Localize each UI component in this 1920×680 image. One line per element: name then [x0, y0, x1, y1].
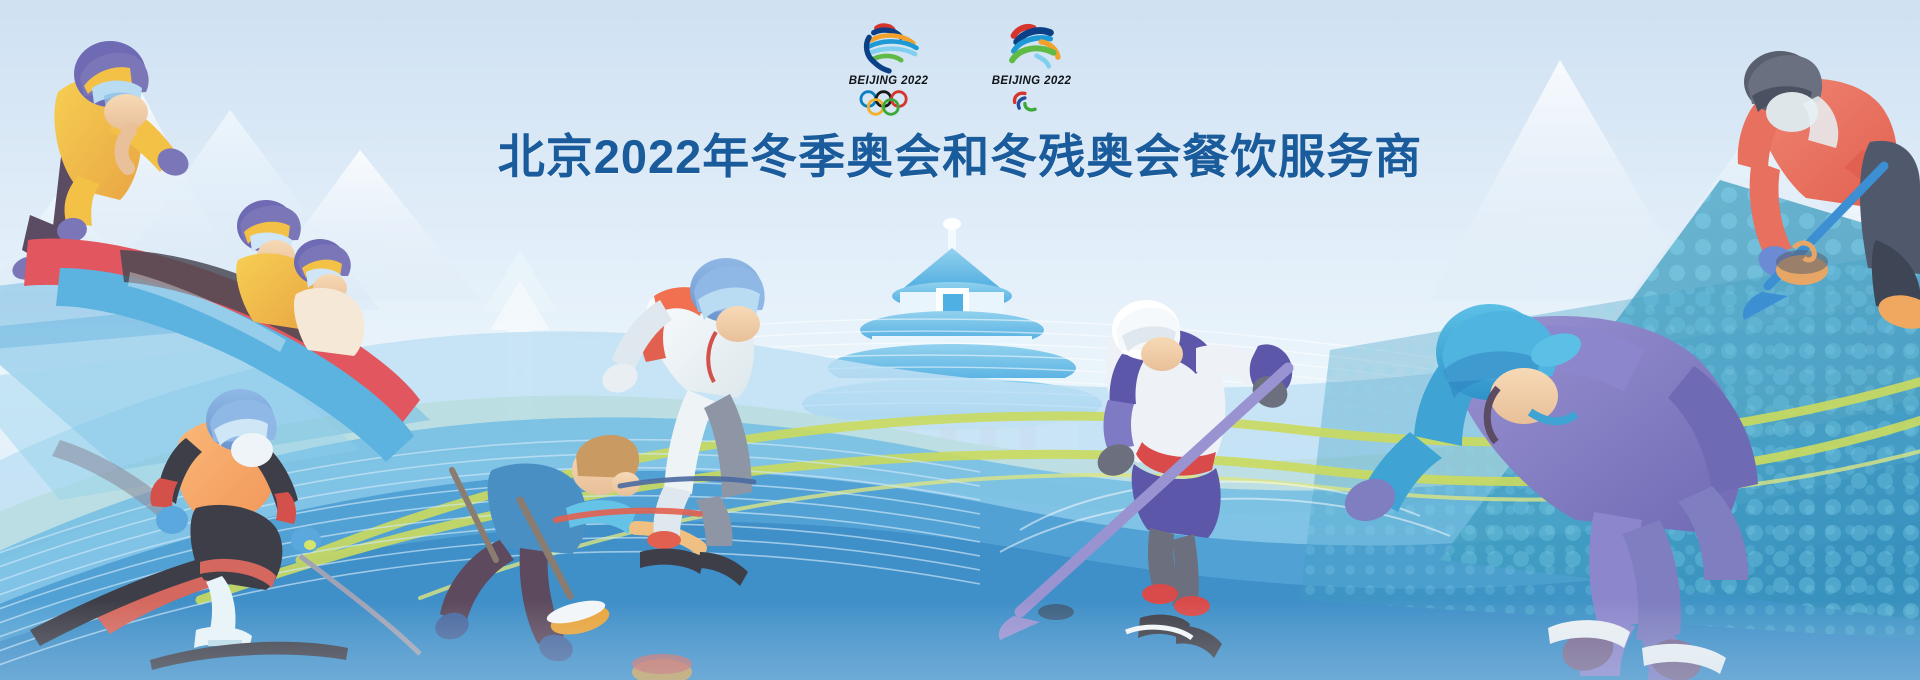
beijing-2022-banner: BEIJING 2022 — [0, 0, 1920, 680]
bottom-fade — [0, 0, 1920, 680]
